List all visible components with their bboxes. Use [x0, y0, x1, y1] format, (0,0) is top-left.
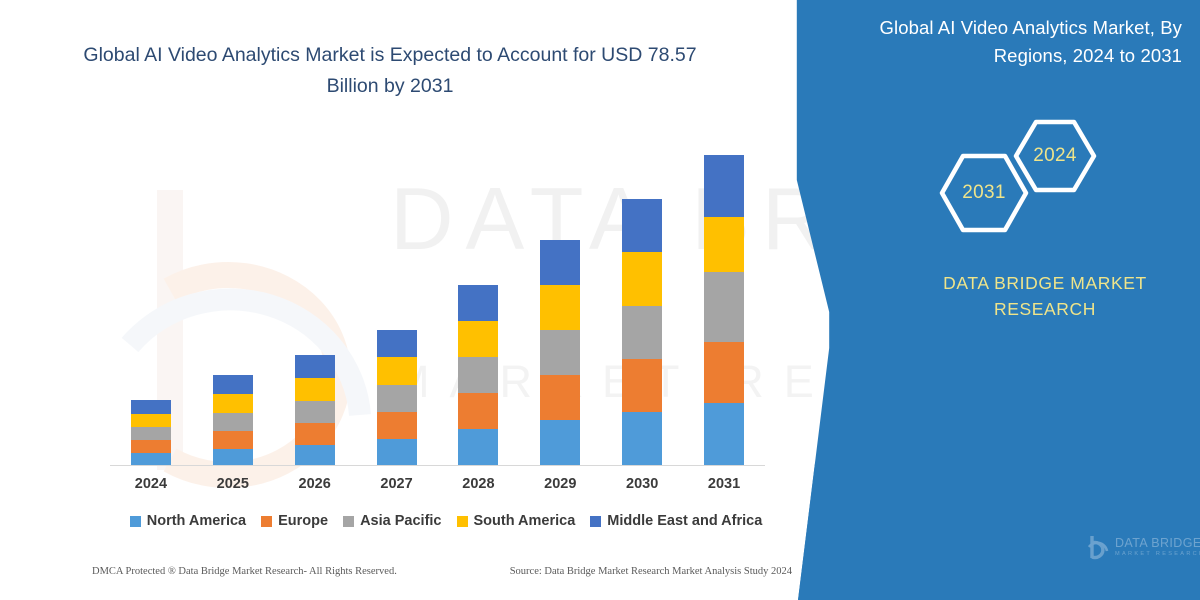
bar-segment: [377, 412, 417, 439]
bar-segment: [622, 412, 662, 465]
bar-column-2028: [458, 285, 498, 465]
bar-segment: [131, 414, 171, 427]
bar-segment: [377, 330, 417, 357]
bar-column-2027: [377, 330, 417, 465]
x-axis-labels: 20242025202620272028202920302031: [110, 476, 765, 492]
bar-segment: [540, 420, 580, 465]
x-axis-label-2025: 2025: [203, 476, 263, 492]
bar-segment: [704, 342, 744, 403]
bar-column-2030: [622, 199, 662, 465]
bar-column-2031: [704, 155, 744, 465]
legend-item[interactable]: Asia Pacific: [343, 513, 441, 529]
x-axis-label-2029: 2029: [530, 476, 590, 492]
legend-swatch-icon: [457, 516, 468, 527]
hexagon-label-2031: 2031: [962, 182, 1005, 204]
dbmr-logo-main: DATA BRIDGE: [1115, 537, 1200, 550]
bar-group: [110, 130, 765, 465]
x-axis-label-2027: 2027: [367, 476, 427, 492]
bar-segment: [295, 445, 335, 465]
chart-plot-area: [110, 130, 765, 466]
bar-segment: [540, 240, 580, 285]
bar-segment: [295, 423, 335, 445]
bar-segment: [213, 413, 253, 431]
legend-label: North America: [147, 513, 246, 529]
bar-segment: [131, 427, 171, 440]
chart-legend: North AmericaEuropeAsia PacificSouth Ame…: [106, 513, 786, 529]
bar-segment: [622, 306, 662, 359]
bar-segment: [377, 385, 417, 412]
x-axis-label-2026: 2026: [285, 476, 345, 492]
x-axis-label-2031: 2031: [694, 476, 754, 492]
bar-column-2029: [540, 240, 580, 465]
bar-segment: [458, 429, 498, 465]
legend-swatch-icon: [590, 516, 601, 527]
bar-segment: [295, 355, 335, 378]
bar-segment: [622, 359, 662, 412]
dbmr-corner-logo: DATA BRIDGE MARKET RESEARCH: [1088, 534, 1200, 560]
bar-segment: [213, 449, 253, 465]
bar-column-2025: [213, 375, 253, 465]
bar-segment: [131, 400, 171, 414]
bar-segment: [458, 357, 498, 393]
bar-segment: [213, 431, 253, 449]
x-axis-line: [110, 465, 765, 466]
legend-swatch-icon: [261, 516, 272, 527]
legend-item[interactable]: North America: [130, 513, 246, 529]
hexagon-label-2024: 2024: [1033, 145, 1076, 167]
x-axis-label-2028: 2028: [448, 476, 508, 492]
bar-segment: [131, 453, 171, 465]
bar-segment: [540, 330, 580, 375]
legend-item[interactable]: Middle East and Africa: [590, 513, 762, 529]
legend-label: Middle East and Africa: [607, 513, 762, 529]
bar-column-2026: [295, 355, 335, 465]
footer-source: Source: Data Bridge Market Research Mark…: [510, 566, 792, 577]
legend-label: Asia Pacific: [360, 513, 441, 529]
bar-segment: [458, 393, 498, 429]
panel-title: Global AI Video Analytics Market, By Reg…: [822, 14, 1182, 70]
x-axis-label-2030: 2030: [612, 476, 672, 492]
footer-copyright: DMCA Protected ® Data Bridge Market Rese…: [92, 566, 397, 577]
bar-segment: [377, 439, 417, 465]
bar-column-2024: [131, 400, 171, 465]
bar-segment: [704, 217, 744, 272]
legend-item[interactable]: South America: [457, 513, 576, 529]
legend-swatch-icon: [343, 516, 354, 527]
bar-segment: [704, 155, 744, 217]
bar-segment: [704, 272, 744, 342]
footer: DMCA Protected ® Data Bridge Market Rese…: [92, 566, 792, 577]
legend-label: Europe: [278, 513, 328, 529]
bar-segment: [540, 375, 580, 420]
bar-segment: [704, 403, 744, 465]
bar-segment: [131, 440, 171, 453]
dbmr-b-icon: [1088, 534, 1110, 560]
bar-segment: [213, 394, 253, 413]
brand-name: DATA BRIDGE MARKET RESEARCH: [900, 270, 1190, 322]
x-axis-label-2024: 2024: [121, 476, 181, 492]
bar-segment: [540, 285, 580, 330]
dbmr-corner-logo-text: DATA BRIDGE MARKET RESEARCH: [1115, 537, 1200, 558]
bar-segment: [458, 321, 498, 357]
legend-swatch-icon: [130, 516, 141, 527]
hexagon-badge-2024: 2024: [1012, 118, 1098, 194]
bar-segment: [295, 401, 335, 423]
bar-segment: [213, 375, 253, 394]
bar-segment: [295, 378, 335, 401]
legend-label: South America: [474, 513, 576, 529]
bar-segment: [377, 357, 417, 385]
chart-title: Global AI Video Analytics Market is Expe…: [60, 40, 720, 102]
legend-item[interactable]: Europe: [261, 513, 328, 529]
bar-segment: [622, 252, 662, 306]
bar-segment: [458, 285, 498, 321]
bar-segment: [622, 199, 662, 252]
dbmr-logo-sub: MARKET RESEARCH: [1115, 552, 1200, 558]
